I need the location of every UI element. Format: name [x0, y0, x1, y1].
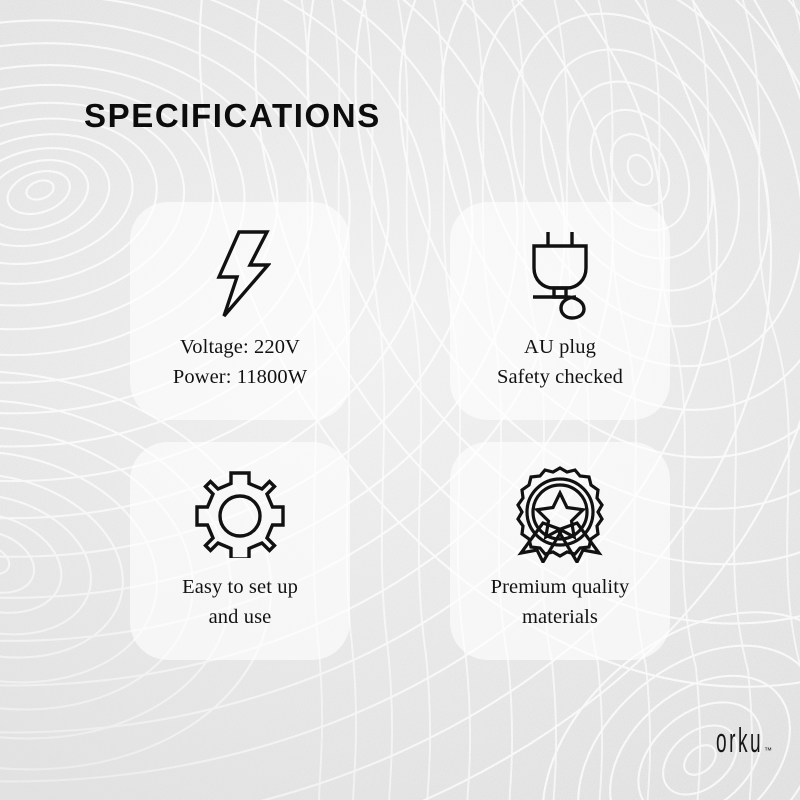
spec-line-1: Voltage: 220V — [173, 332, 307, 362]
spec-line-2: materials — [491, 602, 630, 632]
specifications-banner: SPECIFICATIONS Voltage: 220V Power: 1180… — [0, 0, 800, 800]
spec-card-text: Easy to set up and use — [182, 572, 298, 632]
brand-wordmark: orku — [716, 724, 763, 758]
spec-line-1: Easy to set up — [182, 572, 298, 602]
spec-line-1: Premium quality — [491, 572, 630, 602]
spec-card-au-plug: AU plug Safety checked — [450, 202, 670, 420]
gear-icon — [194, 456, 286, 572]
spec-card-voltage-power: Voltage: 220V Power: 11800W — [130, 202, 350, 420]
spec-card-text: AU plug Safety checked — [497, 332, 623, 392]
spec-card-text: Voltage: 220V Power: 11800W — [173, 332, 307, 392]
brand-logo: orku ™ — [679, 724, 772, 758]
spec-card-text: Premium quality materials — [491, 572, 630, 632]
trademark-symbol: ™ — [764, 747, 772, 755]
spec-card-easy-setup: Easy to set up and use — [130, 442, 350, 660]
spec-line-2: and use — [182, 602, 298, 632]
power-plug-icon — [520, 216, 600, 332]
spec-card-premium-quality: Premium quality materials — [450, 442, 670, 660]
spec-line-2: Power: 11800W — [173, 362, 307, 392]
lightning-bolt-icon — [209, 216, 271, 332]
specification-card-grid: Voltage: 220V Power: 11800W — [130, 202, 670, 660]
award-badge-icon — [513, 456, 607, 572]
page-title: SPECIFICATIONS — [84, 96, 381, 136]
spec-line-2: Safety checked — [497, 362, 623, 392]
spec-line-1: AU plug — [497, 332, 623, 362]
